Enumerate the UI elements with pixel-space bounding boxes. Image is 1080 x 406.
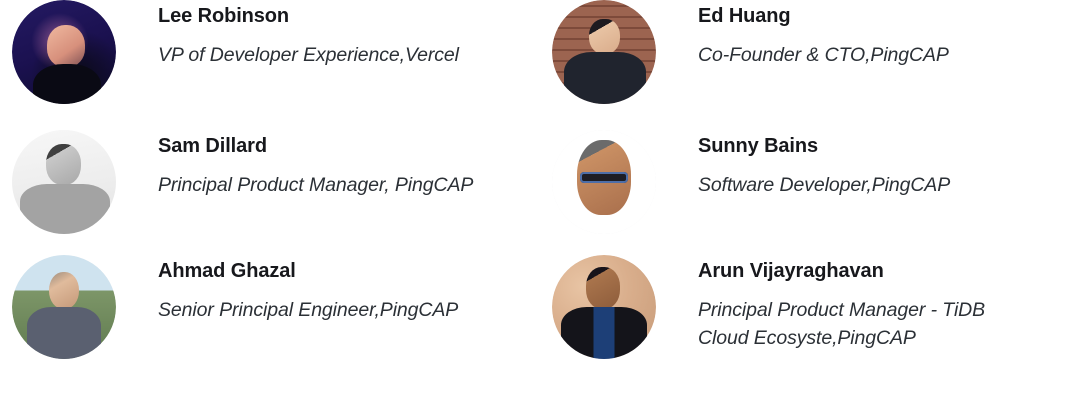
speakers-grid: Lee Robinson VP of Developer Experience,… — [0, 0, 1080, 406]
speaker-name: Lee Robinson — [158, 6, 459, 26]
speaker-title: VP of Developer Experience,Vercel — [158, 42, 459, 70]
speaker-card-ahmad-ghazal[interactable]: Ahmad Ghazal Senior Principal Engineer,P… — [0, 255, 540, 406]
speaker-title: Principal Product Manager, PingCAP — [158, 172, 473, 200]
speaker-name: Sam Dillard — [158, 136, 473, 156]
avatar-ahmad-ghazal — [12, 255, 116, 359]
speaker-card-sam-dillard[interactable]: Sam Dillard Principal Product Manager, P… — [0, 130, 540, 255]
speaker-card-arun-vijayraghavan[interactable]: Arun Vijayraghavan Principal Product Man… — [540, 255, 1080, 406]
speaker-text: Arun Vijayraghavan Principal Product Man… — [656, 255, 1018, 352]
speaker-text: Ed Huang Co-Founder & CTO,PingCAP — [656, 0, 949, 70]
speaker-name: Sunny Bains — [698, 136, 950, 156]
avatar-portrait-icon — [12, 255, 116, 359]
avatar-portrait-icon — [12, 0, 116, 104]
speaker-name: Ahmad Ghazal — [158, 261, 458, 281]
speaker-title: Co-Founder & CTO,PingCAP — [698, 42, 949, 70]
speaker-title: Principal Product Manager - TiDB Cloud E… — [698, 297, 1018, 352]
speaker-name: Arun Vijayraghavan — [698, 261, 1018, 281]
speaker-text: Sam Dillard Principal Product Manager, P… — [116, 130, 473, 200]
avatar-portrait-icon — [12, 130, 116, 234]
speaker-text: Lee Robinson VP of Developer Experience,… — [116, 0, 459, 70]
avatar-portrait-icon — [552, 255, 656, 359]
speaker-card-sunny-bains[interactable]: Sunny Bains Software Developer,PingCAP — [540, 130, 1080, 255]
speaker-name: Ed Huang — [698, 6, 949, 26]
avatar-sunny-bains — [552, 130, 656, 234]
avatar-portrait-icon — [552, 130, 656, 234]
avatar-portrait-icon — [552, 0, 656, 104]
speaker-card-ed-huang[interactable]: Ed Huang Co-Founder & CTO,PingCAP — [540, 0, 1080, 130]
speaker-text: Sunny Bains Software Developer,PingCAP — [656, 130, 950, 200]
speaker-title: Senior Principal Engineer,PingCAP — [158, 297, 458, 325]
avatar-lee-robinson — [12, 0, 116, 104]
speaker-title: Software Developer,PingCAP — [698, 172, 950, 200]
avatar-ed-huang — [552, 0, 656, 104]
avatar-sam-dillard — [12, 130, 116, 234]
avatar-arun-vijayraghavan — [552, 255, 656, 359]
speaker-card-lee-robinson[interactable]: Lee Robinson VP of Developer Experience,… — [0, 0, 540, 130]
speaker-text: Ahmad Ghazal Senior Principal Engineer,P… — [116, 255, 458, 325]
